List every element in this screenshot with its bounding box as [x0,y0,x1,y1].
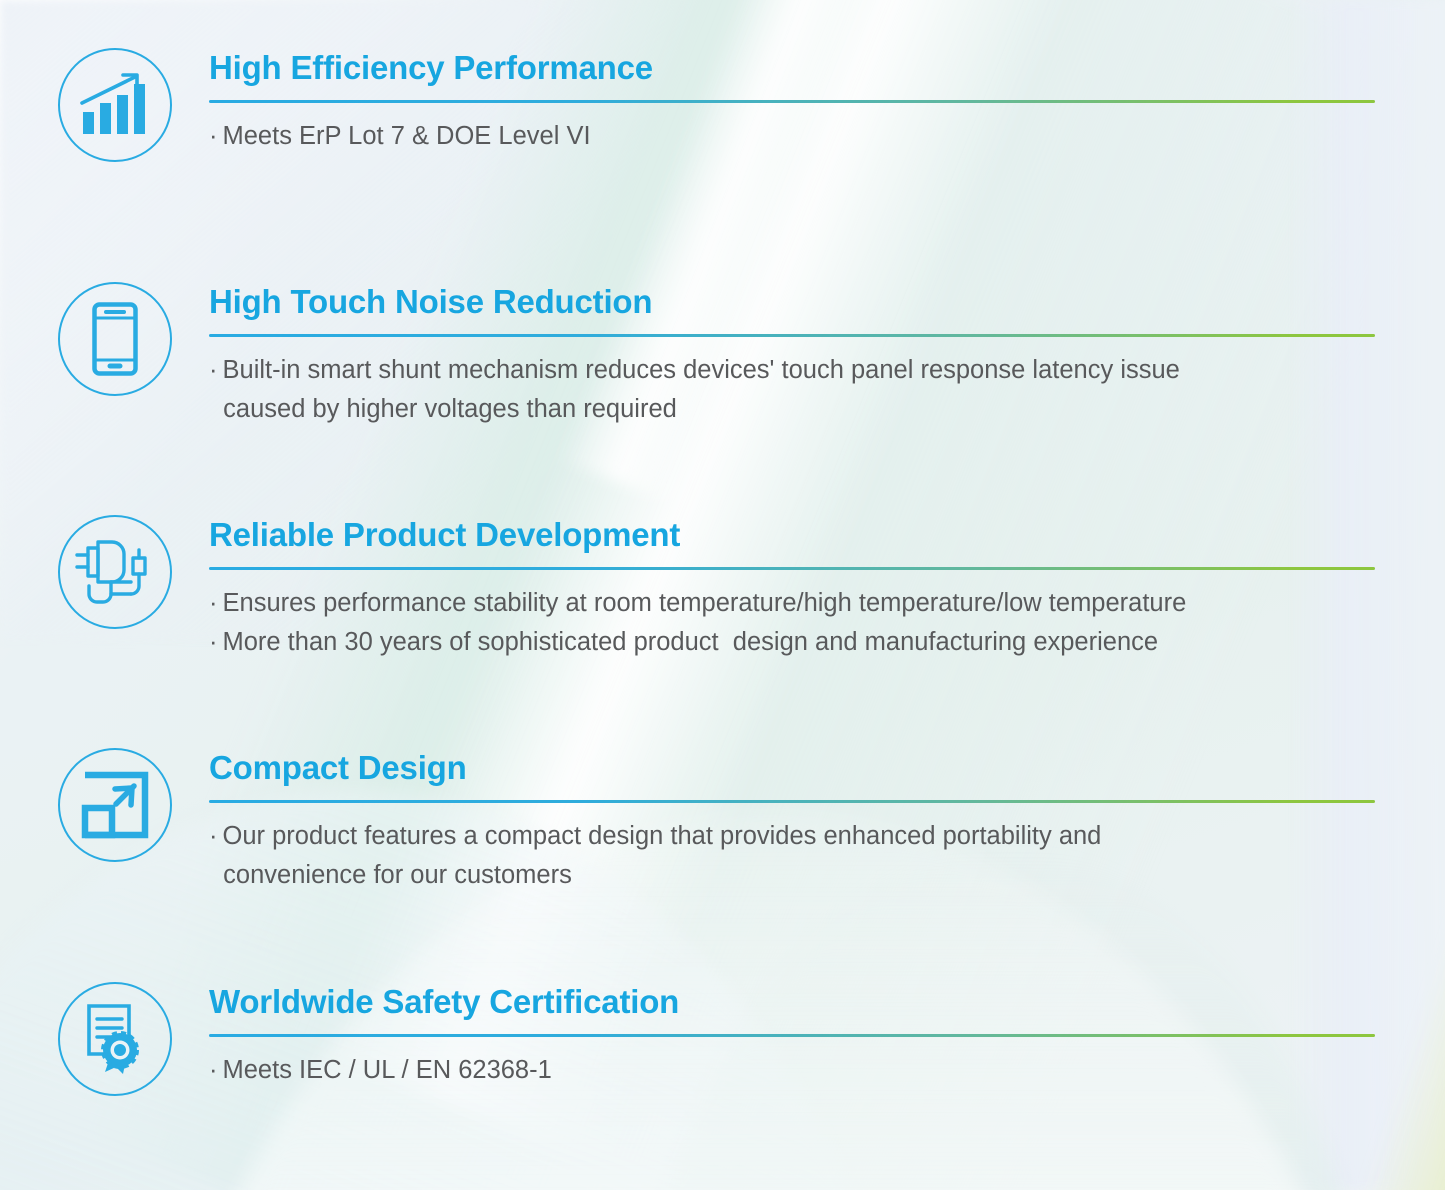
bullet-text: More than 30 years of sophisticated prod… [223,628,1159,656]
feature-item-high-efficiency-performance: High Efficiency Performance ·Meets ErP L… [55,48,1375,162]
bullet-text: Meets IEC / UL / EN 62368-1 [223,1056,552,1084]
feature-title: Compact Design [209,748,1375,788]
feature-title: Reliable Product Development [209,515,1375,555]
feature-icon-wrapper [55,282,175,396]
bullet-mark: · [209,822,218,850]
smartphone-icon [58,282,172,396]
feature-icon-wrapper [55,748,175,862]
feature-texts: High Touch Noise Reduction ·Built-in sma… [175,282,1375,429]
feature-title: High Efficiency Performance [209,48,1375,88]
feature-item-worldwide-safety-certification: Worldwide Safety Certification ·Meets IE… [55,982,1375,1096]
feature-divider [209,1034,1375,1037]
feature-item-reliable-product-development: Reliable Product Development ·Ensures pe… [55,515,1375,662]
feature-texts: Reliable Product Development ·Ensures pe… [175,515,1375,662]
bullet-text: Meets ErP Lot 7 & DOE Level VI [223,122,591,150]
bullet-mark: · [209,628,218,656]
feature-item-compact-design: Compact Design ·Our product features a c… [55,748,1375,895]
bullet-text: Ensures performance stability at room te… [223,589,1187,617]
bullet-mark: · [209,122,218,150]
bullet-mark: · [209,356,218,384]
feature-texts: Compact Design ·Our product features a c… [175,748,1375,895]
resize-shrink-icon [58,748,172,862]
feature-item-high-touch-noise-reduction: High Touch Noise Reduction ·Built-in sma… [55,282,1375,429]
power-adapter-icon [58,515,172,629]
feature-bullet-list: ·Built-in smart shunt mechanism reduces … [209,351,1375,429]
feature-icon-wrapper [55,48,175,162]
feature-bullet-list: ·Meets IEC / UL / EN 62368-1 [209,1051,1375,1090]
bullet-text: Built-in smart shunt mechanism reduces d… [209,356,1180,423]
bullet-mark: · [209,589,218,617]
feature-bullet-line: ·Built-in smart shunt mechanism reduces … [209,351,1375,429]
feature-bullet-list: ·Our product features a compact design t… [209,817,1375,895]
feature-bullet-line: ·More than 30 years of sophisticated pro… [209,623,1375,662]
feature-divider [209,334,1375,337]
feature-bullet-list: ·Ensures performance stability at room t… [209,584,1375,662]
certificate-award-icon [58,982,172,1096]
feature-list-page: High Efficiency Performance ·Meets ErP L… [0,0,1445,1190]
bullet-mark: · [209,1056,218,1084]
feature-texts: High Efficiency Performance ·Meets ErP L… [175,48,1375,156]
feature-bullet-line: ·Our product features a compact design t… [209,817,1375,895]
feature-divider [209,567,1375,570]
feature-icon-wrapper [55,982,175,1096]
bullet-text: Our product features a compact design th… [209,822,1101,889]
feature-bullet-line: ·Meets IEC / UL / EN 62368-1 [209,1051,1375,1090]
feature-divider [209,100,1375,103]
feature-bullet-list: ·Meets ErP Lot 7 & DOE Level VI [209,117,1375,156]
feature-texts: Worldwide Safety Certification ·Meets IE… [175,982,1375,1090]
bar-chart-growth-icon [58,48,172,162]
feature-bullet-line: ·Ensures performance stability at room t… [209,584,1375,623]
feature-divider [209,800,1375,803]
feature-title: High Touch Noise Reduction [209,282,1375,322]
feature-title: Worldwide Safety Certification [209,982,1375,1022]
feature-bullet-line: ·Meets ErP Lot 7 & DOE Level VI [209,117,1375,156]
feature-icon-wrapper [55,515,175,629]
